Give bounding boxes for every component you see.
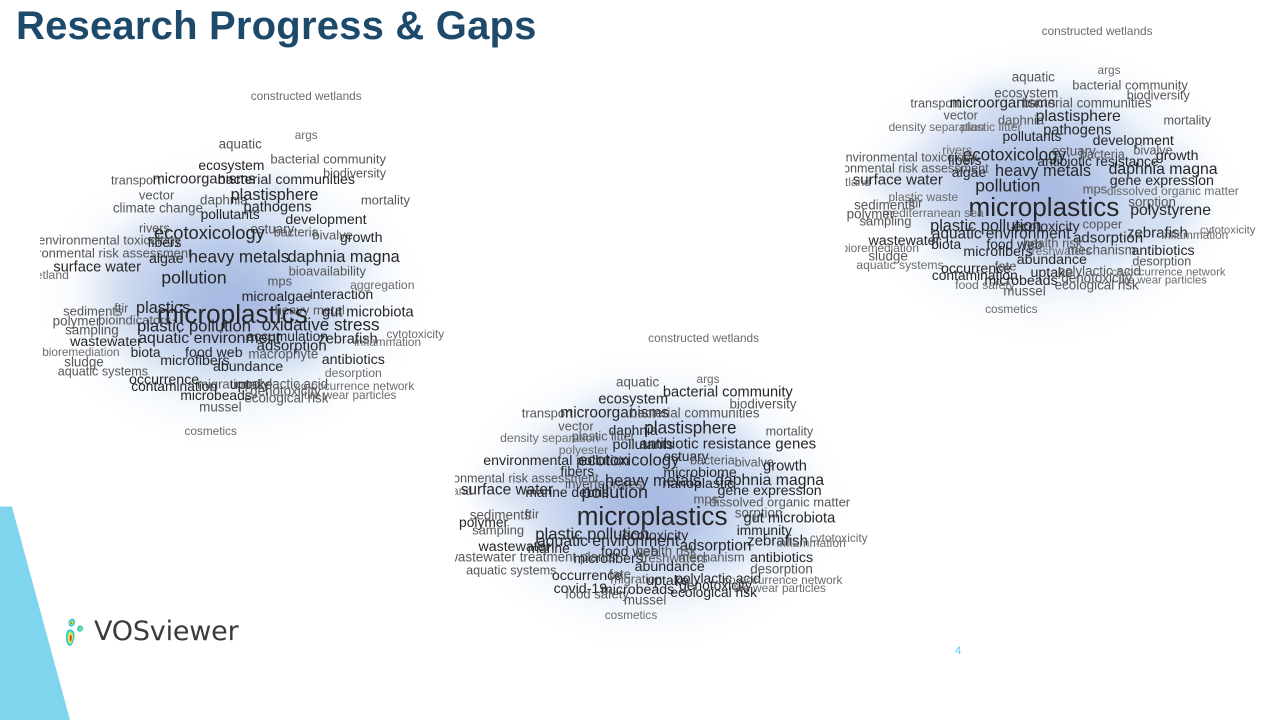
map-label[interactable]: args (1098, 65, 1121, 77)
density-map-2[interactable]: constructed wetlandsargsaquaticbacterial… (455, 320, 895, 720)
map-label[interactable]: sampling (472, 524, 524, 537)
vosviewer-logo: VOSviewer (62, 616, 238, 647)
map-label[interactable]: desorption (325, 367, 382, 379)
map-label[interactable]: pollutants (201, 208, 260, 222)
map-label[interactable]: inflammation (777, 537, 846, 549)
map-label[interactable]: pollutants (1002, 130, 1061, 144)
map-label[interactable]: bacterial community (270, 153, 386, 166)
slide-canvas: Research Progress & Gaps constructed wet… (0, 0, 1280, 720)
map-label[interactable]: wetland (40, 269, 69, 281)
page-title: Research Progress & Gaps (16, 4, 537, 49)
map-label[interactable]: biota (931, 238, 961, 252)
map-label[interactable]: aquatic systems (466, 565, 556, 578)
map-label[interactable]: constructed wetlands (648, 333, 759, 345)
map-label[interactable]: pollution (581, 484, 648, 502)
map-label[interactable]: antibiotics (322, 353, 385, 367)
map-label[interactable]: polystyrene (1130, 203, 1211, 219)
map-label[interactable]: bacterial communities (218, 173, 355, 187)
map-label[interactable]: biota (131, 346, 161, 360)
vosviewer-density-mark-icon (62, 617, 88, 647)
map-label[interactable]: mussel (624, 593, 666, 606)
map-label[interactable]: pollution (161, 269, 226, 287)
map-label[interactable]: interaction (310, 288, 374, 302)
map-label[interactable]: sampling (859, 215, 911, 228)
map-label[interactable]: growth (340, 231, 383, 245)
map-label[interactable]: mussel (199, 400, 241, 413)
map-label[interactable]: food safety (565, 588, 629, 601)
map-label[interactable]: mps (268, 275, 293, 288)
map-label[interactable]: ftir (525, 508, 539, 521)
vosviewer-logo-text: VOSviewer (94, 616, 238, 647)
map-label[interactable]: args (295, 130, 318, 142)
density-map-3[interactable]: constructed wetlandsargsaquaticbacterial… (845, 20, 1280, 420)
map-label[interactable]: plastisphere (644, 419, 736, 436)
map-label[interactable]: cosmetics (184, 426, 236, 438)
map-label[interactable]: heavy metals (189, 249, 290, 266)
map-label[interactable]: inflammation (1161, 230, 1228, 242)
map-label[interactable]: aquatic (1012, 70, 1055, 83)
map-label[interactable]: mortality (1164, 115, 1212, 128)
map-label[interactable]: ecological risk (670, 586, 757, 600)
density-map-1[interactable]: constructed wetlandsaquaticargsbacterial… (40, 80, 480, 480)
map-label[interactable]: ecological risk (244, 391, 328, 404)
map-label[interactable]: mortality (361, 194, 410, 207)
map-label[interactable]: aquatic (616, 375, 659, 388)
map-label[interactable]: aquatic (219, 137, 262, 150)
map-label[interactable]: bioavailability (289, 265, 366, 278)
map-label[interactable]: algae (149, 252, 184, 266)
map-label[interactable]: microfibers (573, 552, 642, 566)
map-label[interactable]: cosmetics (985, 304, 1037, 316)
map-label[interactable]: constructed wetlands (1042, 26, 1153, 38)
decorative-blue-wedge (0, 488, 70, 720)
map-label[interactable]: ecological risk (1055, 278, 1139, 291)
map-label[interactable]: climate change (113, 201, 203, 214)
map-label[interactable]: constructed wetlands (251, 91, 362, 103)
map-label[interactable]: wetland (845, 177, 871, 189)
map-label[interactable]: mussel (1003, 284, 1045, 297)
map-label[interactable]: abundance (213, 360, 283, 374)
map-label[interactable]: aquatic systems (856, 259, 943, 271)
slide-number: 4 (955, 645, 961, 657)
map-label[interactable]: cosmetics (605, 610, 657, 622)
map-label[interactable]: inflammation (354, 337, 421, 349)
